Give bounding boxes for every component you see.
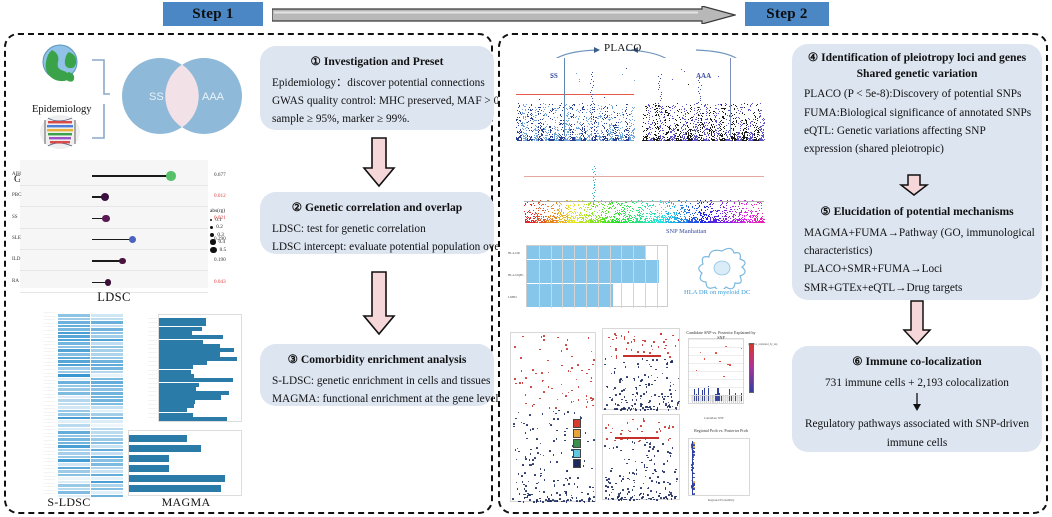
scatter-point [541,123,542,124]
scatter-point [568,118,569,119]
magma-bar-label: ———— [129,365,157,367]
scatter-point [750,105,751,106]
scatter-point [666,203,667,204]
scatter-point [539,109,540,110]
scatter-point [581,208,582,209]
scatter-point [540,113,541,114]
epidemiology-label: Epidemiology [32,104,92,115]
scatter-point [738,117,739,118]
scatter-point [624,205,625,206]
magma-bar [129,445,201,452]
scatter-point [617,130,618,131]
scatter-point [660,100,661,101]
scatter-point [611,105,612,106]
scatter-point [603,108,604,109]
scatter-point [751,133,752,134]
scatter-point [716,138,717,139]
scatter-point [697,103,698,104]
scatter-point [749,139,750,140]
scatter-point [597,140,598,141]
scatter-point [593,215,594,216]
scatter-point [561,123,562,124]
scatter-point [716,140,717,141]
heatmap-row-label: ————— [44,376,56,378]
scatter-point [582,112,583,113]
scatter-point [567,116,568,117]
scatter-point [595,133,596,134]
scatter-point [560,120,561,121]
scatter-point [554,117,555,118]
scatter-point [531,140,532,141]
scatter-point [544,128,545,129]
scatter-point [578,205,579,206]
scatter-point [680,131,681,132]
scatter-point [566,205,567,206]
heatmap-row-label: ————— [44,476,56,478]
scatter-point [659,131,660,132]
scatter-point [587,209,588,210]
scatter-point [561,137,562,138]
scatter-point [541,126,542,127]
scatter-point [744,103,745,104]
scatter-point [609,134,610,135]
scatter-point [715,108,716,109]
scatter-point [622,74,623,75]
scatter-point [706,122,707,123]
step-1-chip: Step 1 [163,2,263,26]
scatter-point [650,111,651,112]
scatter-point [724,109,725,110]
magma-bar-label: ———— [129,348,157,350]
scatter-point [670,136,671,137]
scatter-point [542,204,543,205]
forest-row-label: ILD [12,257,20,262]
scatter-point [684,108,685,109]
scatter-point [716,122,717,123]
scatter-point [710,130,711,131]
scatter-point [612,107,613,108]
scatter-point [597,219,598,220]
scatter-point [551,130,552,131]
scatter-point [539,99,540,100]
scatter-point [542,134,543,135]
scatter-point [535,125,536,126]
scatter-point [606,213,607,214]
scatter-point [570,125,571,126]
scatter-point [754,115,755,116]
scatter-point [583,109,584,110]
scatter-point [519,106,520,107]
scatter-point [542,140,543,141]
scatter-point [560,221,561,222]
scatter-point [725,139,726,140]
scatter-point [579,217,580,218]
forest-value-label: 0.012 [214,193,226,199]
scatter-point [698,140,699,141]
scatter-point [618,221,619,222]
heatmap-row-label: ————— [44,401,56,403]
scatter-point [623,207,624,208]
scatter-point [615,117,616,118]
scatter-point [758,109,759,110]
scatter-point [546,114,547,115]
scatter-point [543,208,544,209]
scatter-point [759,111,760,112]
magma-bar [129,435,187,442]
scatter-point [730,136,731,137]
scatter-point [626,126,627,127]
scatter-point [650,216,651,217]
scatter-point [656,105,657,106]
scatter-point [548,116,549,117]
scatter-point [593,119,594,120]
scatter-point [706,136,707,137]
scatter-point [628,140,629,141]
scatter-point [664,114,665,115]
scatter-point [649,106,650,107]
scatter-point [549,104,550,105]
scatter-point [696,117,697,118]
scatter-point [615,131,616,132]
scatter-point [574,105,575,106]
scatter-point [538,210,539,211]
scatter-point [613,132,614,133]
scatter-point [555,133,556,134]
scatter-point [718,104,719,105]
scatter-point [721,108,722,109]
scatter-point [567,121,568,122]
scatter-point [552,205,553,206]
scatter-point [517,110,518,111]
scatter-point [677,140,678,141]
scatter-point [726,119,727,120]
scatter-point [538,111,539,112]
s-ldsc-caption: S-LDSC [14,495,124,510]
scatter-point [561,116,562,117]
scatter-point [578,128,579,129]
scatter-point [764,139,765,140]
scatter-point [521,137,522,138]
scatter-point [584,204,585,205]
scatter-point [525,117,526,118]
scatter-point [698,122,699,123]
scatter-point [583,206,584,207]
scatter-point [545,135,546,136]
scatter-point [582,218,583,219]
scatter-point [659,204,660,205]
scatter-point [744,133,745,134]
scatter-point [579,116,580,117]
scatter-point [639,216,640,217]
scatter-point [516,120,517,121]
scatter-point [581,125,582,126]
scatter-point [725,103,726,104]
scatter-point [674,123,675,124]
scatter-point [660,130,661,131]
scatter-point [736,140,737,141]
scatter-point [538,216,539,217]
scatter-point [561,120,562,121]
scatter-point [614,214,615,215]
scatter-point [547,206,548,207]
scatter-point [624,211,625,212]
scatter-point [531,113,532,114]
scatter-point [629,134,630,135]
scatter-point [622,127,623,128]
scatter-point [701,122,702,123]
box2-line-1: LDSC: test for genetic correlation [272,220,482,238]
scatter-point [702,127,703,128]
scatter-point [744,107,745,108]
box3-line-1: S-LDSC: genetic enrichment in cells and … [272,372,482,390]
scatter-point [531,205,532,206]
scatter-point [526,130,527,131]
scatter-point [735,126,736,127]
step-bar: Step 1 Step 2 [0,0,1052,30]
scatter-point [665,122,666,123]
scatter-point [708,134,709,135]
scatter-point [660,78,661,79]
scatter-point [561,204,562,205]
legend-label: 0.1 [215,217,221,223]
scatter-point [595,136,596,137]
magma-bar-label: ———— [129,370,157,372]
scatter-point [580,133,581,134]
scatter-point [539,204,540,205]
scatter-point [626,130,627,131]
magma-bar-label: ———— [129,417,157,419]
scatter-point [603,119,604,120]
scatter-point [546,140,547,141]
heatmap-row-label: ————— [44,472,56,474]
scatter-point [736,132,737,133]
scatter-point [630,210,631,211]
scatter-point [524,123,525,124]
scatter-point [516,127,517,128]
scatter-point [669,118,670,119]
scatter-point [740,130,741,131]
scatter-point [722,140,723,141]
scatter-point [524,106,525,107]
scatter-point [605,211,606,212]
scatter-point [561,211,562,212]
scatter-point [757,136,758,137]
scatter-point [555,112,556,113]
scatter-point [698,125,699,126]
scatter-point [545,127,546,128]
scatter-point [558,140,559,141]
scatter-point [570,140,571,141]
scatter-point [703,125,704,126]
scatter-point [711,120,712,121]
scatter-point [597,212,598,213]
scatter-point [520,113,521,114]
scatter-point [544,109,545,110]
scatter-point [617,127,618,128]
scatter-point [561,103,562,104]
scatter-point [703,138,704,139]
scatter-point [557,204,558,205]
magma-bar-label: ———— [129,408,157,410]
scatter-point [578,111,579,112]
scatter-point [573,114,574,115]
box1-line-2: GWAS quality control: MHC preserved, MAF… [272,92,482,110]
scatter-point [674,140,675,141]
scatter-point [531,127,532,128]
s-ldsc-heatmap: S-LDSC —————————————————————————————————… [14,312,124,512]
box2-title: ② Genetic correlation and overlap [272,200,482,216]
scatter-point [721,120,722,121]
scatter-point [726,104,727,105]
scatter-point [587,105,588,106]
scatter-point [586,204,587,205]
scatter-point [661,109,662,110]
scatter-point [592,107,593,108]
scatter-point [698,87,699,88]
scatter-point [725,114,726,115]
scatter-point [739,113,740,114]
scatter-point [522,109,523,110]
scatter-point [561,219,562,220]
magma-bar-label: ———— [129,383,157,385]
scatter-point [602,132,603,133]
scatter-point [601,137,602,138]
scatter-point [731,105,732,106]
legend-title: abs(rg) [210,208,256,214]
scatter-point [700,125,701,126]
scatter-point [670,213,671,214]
scatter-point [626,68,627,69]
heatmap-row-label: ————— [44,422,56,424]
scatter-point [657,138,658,139]
magma-bar-label: ———— [129,404,157,406]
scatter-point [523,104,524,105]
scatter-point [559,124,560,125]
scatter-point [650,127,651,128]
scatter-point [652,122,653,123]
scatter-point [713,131,714,132]
scatter-point [595,140,596,141]
scatter-point [764,119,765,120]
scatter-point [617,204,618,205]
heatmap-row-label: ————— [44,394,56,396]
scatter-point [677,103,678,104]
scatter-point [760,103,761,104]
scatter-point [525,109,526,110]
scatter-point [638,210,639,211]
scatter-point [715,116,716,117]
scatter-point [522,122,523,123]
scatter-point [665,140,666,141]
scatter-point [559,122,560,123]
scatter-point [718,76,719,77]
scatter-point [633,135,634,136]
scatter-point [590,209,591,210]
scatter-point [685,140,686,141]
scatter-point [681,112,682,113]
scatter-point [622,137,623,138]
scatter-point [650,214,651,215]
scatter-point [693,116,694,117]
scatter-point [543,103,544,104]
scatter-point [529,136,530,137]
scatter-point [701,85,702,86]
scatter-point [604,218,605,219]
scatter-point [652,222,653,223]
scatter-point [551,222,552,223]
scatter-point [706,128,707,129]
scatter-point [626,107,627,108]
scatter-point [612,139,613,140]
scatter-point [680,122,681,123]
scatter-point [716,130,717,131]
scatter-point [594,107,595,108]
scatter-point [696,129,697,130]
scatter-point [684,111,685,112]
scatter-point [594,109,595,110]
scatter-point [598,118,599,119]
scatter-point [589,129,590,130]
scatter-point [548,130,549,131]
scatter-point [743,123,744,124]
scatter-point [670,107,671,108]
scatter-point [604,208,605,209]
heatmap-row-label: ————— [44,412,56,414]
scatter-point [663,209,664,210]
scatter-point [587,109,588,110]
scatter-point [715,112,716,113]
scatter-point [535,212,536,213]
scatter-point [644,222,645,223]
scatter-point [591,216,592,217]
scatter-point [556,202,557,203]
scatter-point [593,103,594,104]
scatter-point [614,208,615,209]
heatmap-row-label: ————— [44,330,56,332]
scatter-point [733,121,734,122]
scatter-point [672,116,673,117]
magma-bar-label: ———— [129,395,157,397]
scatter-point [618,122,619,123]
scatter-point [590,108,591,109]
scatter-point [672,118,673,119]
scatter-point [610,133,611,134]
scatter-point [547,209,548,210]
scatter-point [570,208,571,209]
scatter-point [587,207,588,208]
scatter-point [656,119,657,120]
scatter-point [610,203,611,204]
scatter-point [580,137,581,138]
forest-value-label: 0.043 [214,279,226,285]
scatter-point [651,132,652,133]
scatter-point [661,98,662,99]
scatter-point [519,117,520,118]
scatter-point [559,205,560,206]
scatter-point [750,106,751,107]
scatter-point [711,119,712,120]
scatter-point [649,213,650,214]
scatter-point [648,121,649,122]
magma-bar-label: ———— [129,340,157,342]
scatter-point [592,87,593,88]
scatter-point [743,137,744,138]
scatter-point [727,137,728,138]
scatter-point [659,128,660,129]
scatter-point [526,127,527,128]
scatter-point [632,140,633,141]
scatter-point [605,111,606,112]
